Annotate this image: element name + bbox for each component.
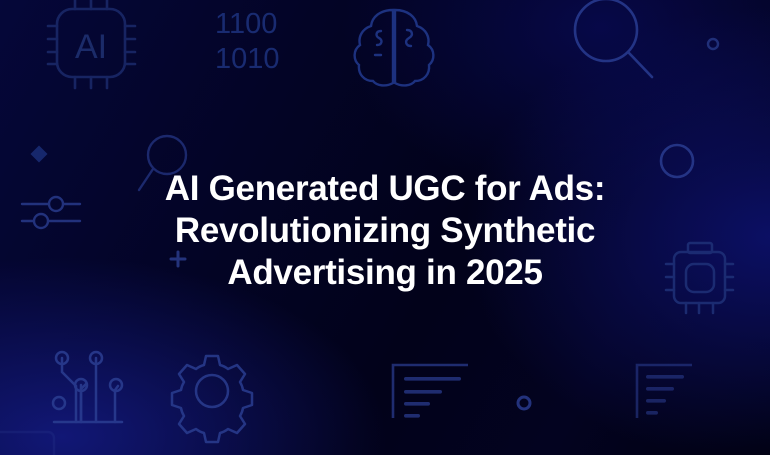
- dot-ring-icon: [518, 397, 530, 409]
- ai-chip-label: AI: [75, 28, 107, 66]
- social-card-canvas: AI 1100 1010: [0, 0, 770, 455]
- clipped-edge-shape: [0, 432, 54, 455]
- gear-icon: [172, 356, 252, 442]
- brain-icon: [355, 10, 434, 85]
- title-line-3: Advertising in 2025: [0, 252, 770, 294]
- circuit-tree-icon: [53, 352, 122, 422]
- binary-code-line-2: 1010: [215, 43, 280, 75]
- title-line-1: AI Generated UGC for Ads:: [0, 168, 770, 210]
- diamond-icon: [31, 146, 48, 163]
- document-lines-icon-2: [637, 365, 692, 418]
- binary-code-line-1: 1100: [215, 8, 277, 40]
- page-title: AI Generated UGC for Ads: Revolutionizin…: [0, 168, 770, 294]
- magnifier-icon: [575, 0, 652, 77]
- document-lines-icon: [393, 365, 468, 418]
- small-ring-icon: [708, 39, 718, 49]
- title-line-2: Revolutionizing Synthetic: [0, 210, 770, 252]
